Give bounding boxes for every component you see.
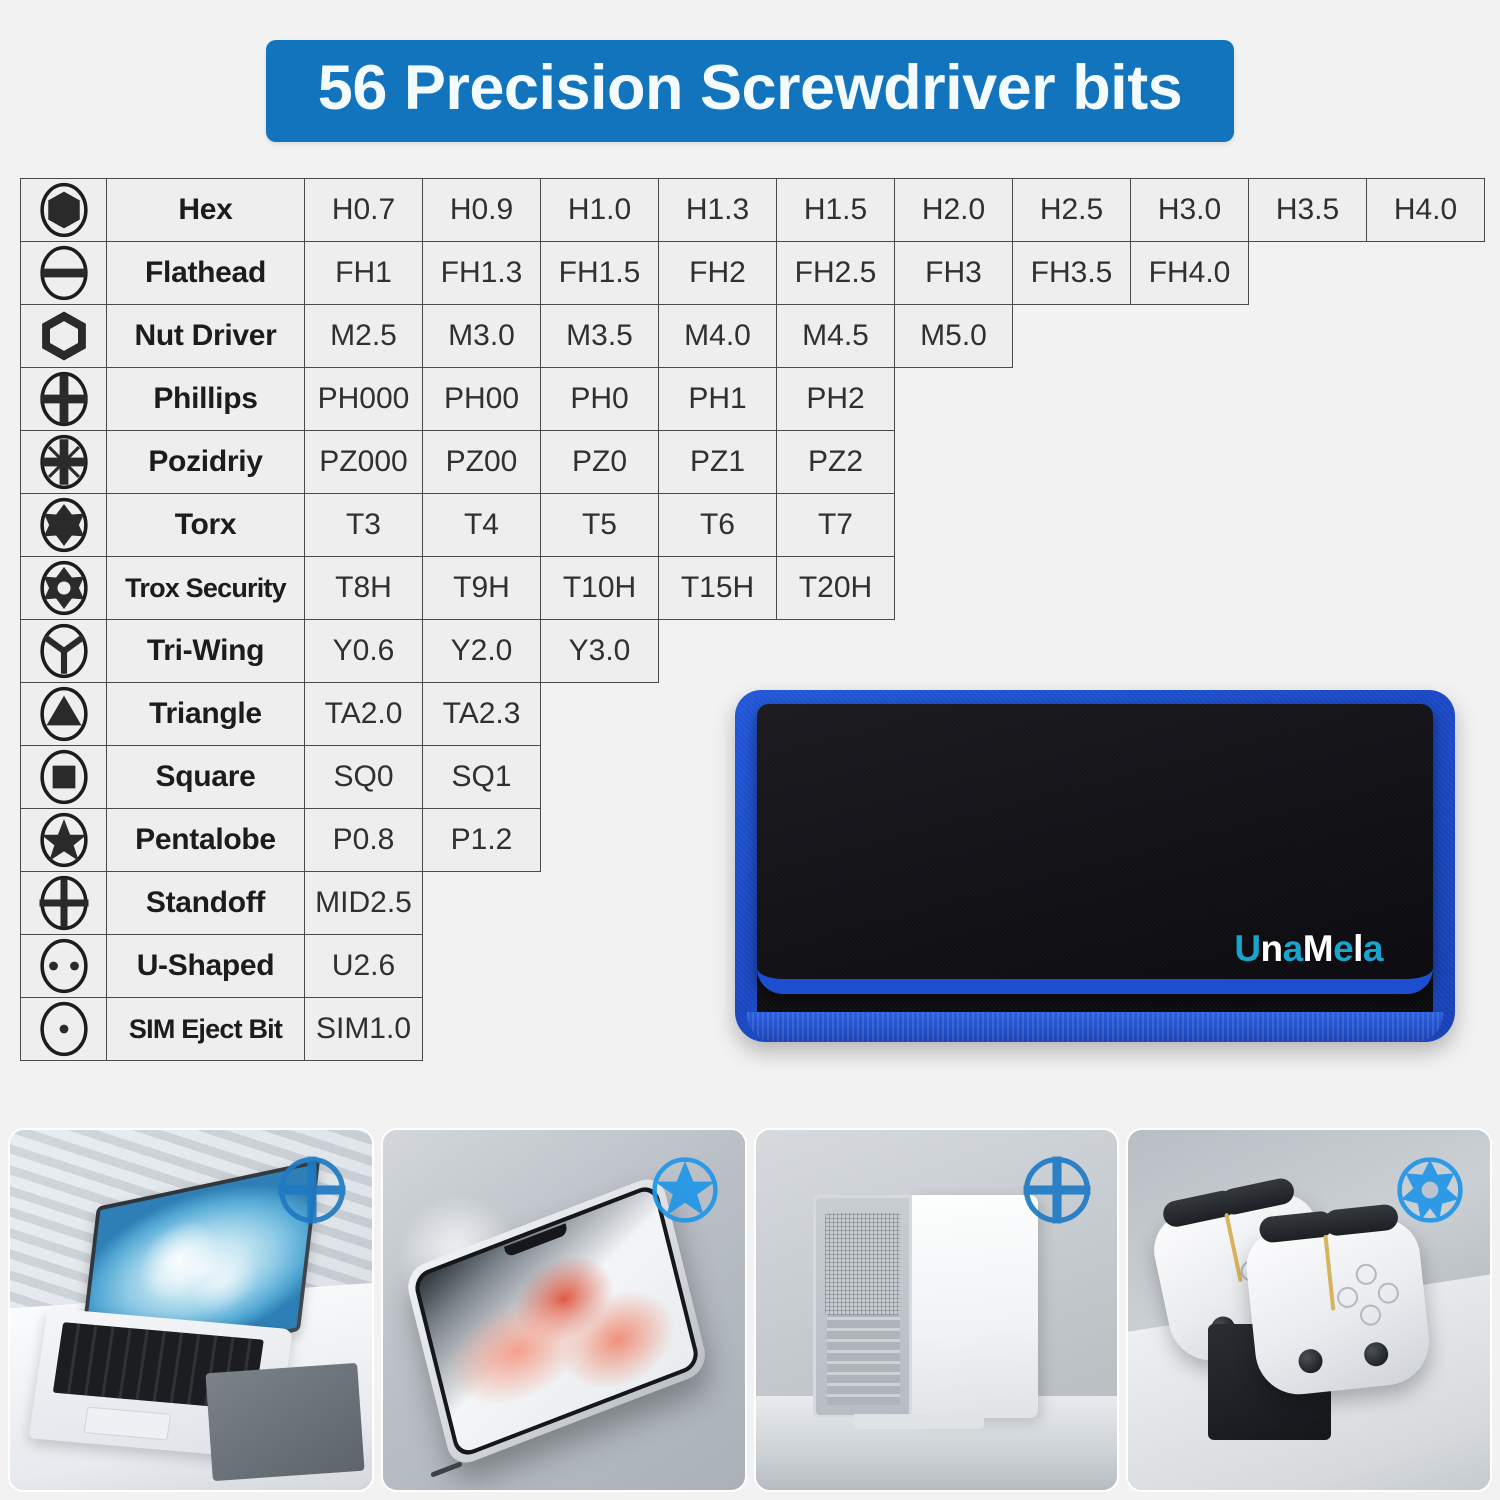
sim-eject-bit-icon xyxy=(21,998,107,1061)
empty-cell xyxy=(777,620,895,683)
empty-cell xyxy=(423,872,541,935)
controller-right-stick xyxy=(1363,1340,1389,1366)
bit-size-value: TA2.0 xyxy=(305,683,423,746)
bit-size-value: P1.2 xyxy=(423,809,541,872)
bit-type-label: Phillips xyxy=(107,368,305,431)
empty-cell xyxy=(1249,305,1367,368)
bit-size-value: Y2.0 xyxy=(423,620,541,683)
brand-logo: UnaMela xyxy=(1234,928,1383,970)
empty-cell xyxy=(1131,557,1249,620)
laptop-mousepad xyxy=(205,1362,364,1480)
empty-cell xyxy=(1367,368,1485,431)
pc-case-expansion-slots xyxy=(827,1315,900,1404)
phillips-badge-icon xyxy=(1019,1152,1095,1228)
bit-size-value: PH2 xyxy=(777,368,895,431)
empty-cell xyxy=(541,998,659,1061)
empty-cell xyxy=(1013,431,1131,494)
bit-size-value: H1.3 xyxy=(659,179,777,242)
empty-cell xyxy=(895,620,1013,683)
bit-type-label: Trox Security xyxy=(107,557,305,620)
phillips-bit-icon xyxy=(21,368,107,431)
bit-size-value: M4.5 xyxy=(777,305,895,368)
table-row: HexH0.7H0.9H1.0H1.3H1.5H2.0H2.5H3.0H3.5H… xyxy=(21,179,1485,242)
table-row: TorxT3T4T5T6T7 xyxy=(21,494,1485,557)
empty-cell xyxy=(541,683,659,746)
photo-smartphone[interactable] xyxy=(381,1128,747,1492)
controller-face-buttons xyxy=(1334,1260,1402,1328)
standoff-bit-icon xyxy=(21,872,107,935)
bit-size-value: H3.5 xyxy=(1249,179,1367,242)
bit-type-label: Pentalobe xyxy=(107,809,305,872)
bit-size-value: M5.0 xyxy=(895,305,1013,368)
pentalobe-badge-icon xyxy=(647,1152,723,1228)
bit-type-label: Pozidriy xyxy=(107,431,305,494)
bit-size-value: H1.0 xyxy=(541,179,659,242)
bit-size-value: T10H xyxy=(541,557,659,620)
pc-case-foot xyxy=(854,1414,984,1430)
bit-size-value: MID2.5 xyxy=(305,872,423,935)
bit-size-value: M4.0 xyxy=(659,305,777,368)
bit-type-label: Nut Driver xyxy=(107,305,305,368)
empty-cell xyxy=(1013,494,1131,557)
bit-type-label: Hex xyxy=(107,179,305,242)
controller-gold-accent xyxy=(1324,1234,1336,1310)
pouch-outer-trim: UnaMela xyxy=(735,690,1455,1042)
empty-cell xyxy=(1131,494,1249,557)
bit-size-value: U2.6 xyxy=(305,935,423,998)
empty-cell xyxy=(1367,242,1485,305)
empty-cell xyxy=(541,935,659,998)
table-row: PozidriyPZ000PZ00PZ0PZ1PZ2 xyxy=(21,431,1485,494)
table-row: Trox SecurityT8HT9HT10HT15HT20H xyxy=(21,557,1485,620)
bit-size-value: SIM1.0 xyxy=(305,998,423,1061)
empty-cell xyxy=(1249,368,1367,431)
empty-cell xyxy=(541,872,659,935)
bit-size-value: PZ000 xyxy=(305,431,423,494)
torx-security-badge-icon xyxy=(1392,1152,1468,1228)
title-banner: 56 Precision Screwdriver bits xyxy=(266,40,1234,142)
empty-cell xyxy=(895,557,1013,620)
empty-cell xyxy=(541,809,659,872)
empty-cell xyxy=(423,935,541,998)
bit-type-label: Triangle xyxy=(107,683,305,746)
bit-size-value: PZ0 xyxy=(541,431,659,494)
page-title: 56 Precision Screwdriver bits xyxy=(318,54,1182,122)
bit-size-value: SQ1 xyxy=(423,746,541,809)
empty-cell xyxy=(541,746,659,809)
bit-size-value: M3.0 xyxy=(423,305,541,368)
bit-type-label: SIM Eject Bit xyxy=(107,998,305,1061)
empty-cell xyxy=(1131,368,1249,431)
product-image-pouch: UnaMela xyxy=(735,690,1455,1060)
bit-size-value: T7 xyxy=(777,494,895,557)
bit-size-value: H0.7 xyxy=(305,179,423,242)
bit-size-value: FH2.5 xyxy=(777,242,895,305)
photo-pc-case[interactable] xyxy=(754,1128,1120,1492)
bit-size-value: T6 xyxy=(659,494,777,557)
empty-cell xyxy=(1367,431,1485,494)
bit-size-value: PH00 xyxy=(423,368,541,431)
bit-size-value: M3.5 xyxy=(541,305,659,368)
bit-size-value: TA2.3 xyxy=(423,683,541,746)
bit-size-value: Y3.0 xyxy=(541,620,659,683)
nut-driver-bit-icon xyxy=(21,305,107,368)
empty-cell xyxy=(1013,305,1131,368)
bit-size-value: FH1.3 xyxy=(423,242,541,305)
bit-size-value: T20H xyxy=(777,557,895,620)
u-shaped-bit-icon xyxy=(21,935,107,998)
bit-size-value: PH1 xyxy=(659,368,777,431)
bit-size-value: T5 xyxy=(541,494,659,557)
bit-size-value: H4.0 xyxy=(1367,179,1485,242)
bit-size-value: FH2 xyxy=(659,242,777,305)
empty-cell xyxy=(1013,368,1131,431)
pozidriv-bit-icon xyxy=(21,431,107,494)
pc-case-mesh xyxy=(825,1213,900,1316)
square-bit-icon xyxy=(21,746,107,809)
photo-controllers[interactable] xyxy=(1126,1128,1492,1492)
empty-cell xyxy=(1131,431,1249,494)
title-banner-wrap: 56 Precision Screwdriver bits xyxy=(0,40,1500,142)
bit-size-value: H1.5 xyxy=(777,179,895,242)
bit-size-value: H0.9 xyxy=(423,179,541,242)
photo-laptop[interactable] xyxy=(8,1128,374,1492)
pc-case-rear-panel xyxy=(813,1195,912,1418)
bit-type-label: Square xyxy=(107,746,305,809)
bit-size-value: T4 xyxy=(423,494,541,557)
table-row: PhillipsPH000PH00PH0PH1PH2 xyxy=(21,368,1485,431)
empty-cell xyxy=(1367,620,1485,683)
empty-cell xyxy=(895,494,1013,557)
empty-cell xyxy=(1367,557,1485,620)
bit-size-value: T15H xyxy=(659,557,777,620)
use-case-photo-strip xyxy=(8,1128,1492,1492)
table-row: Tri-WingY0.6Y2.0Y3.0 xyxy=(21,620,1485,683)
empty-cell xyxy=(1013,557,1131,620)
bit-size-value: P0.8 xyxy=(305,809,423,872)
bit-size-value: PH0 xyxy=(541,368,659,431)
bit-size-value: PH000 xyxy=(305,368,423,431)
bit-size-value: FH3 xyxy=(895,242,1013,305)
laptop-trackpad xyxy=(84,1406,171,1439)
phone-notch xyxy=(504,1223,568,1257)
empty-cell xyxy=(1249,620,1367,683)
bit-size-value: H2.5 xyxy=(1013,179,1131,242)
bit-type-label: Torx xyxy=(107,494,305,557)
pentalobe-bit-icon xyxy=(21,809,107,872)
phillips-badge-icon xyxy=(274,1152,350,1228)
bit-size-value: T8H xyxy=(305,557,423,620)
empty-cell xyxy=(1249,494,1367,557)
bit-size-value: FH1.5 xyxy=(541,242,659,305)
empty-cell xyxy=(1249,242,1367,305)
empty-cell xyxy=(1367,494,1485,557)
bit-size-value: PZ1 xyxy=(659,431,777,494)
empty-cell xyxy=(895,431,1013,494)
bit-type-label: Tri-Wing xyxy=(107,620,305,683)
bit-type-label: Flathead xyxy=(107,242,305,305)
empty-cell xyxy=(895,368,1013,431)
empty-cell xyxy=(659,620,777,683)
bit-size-value: T3 xyxy=(305,494,423,557)
bit-size-value: M2.5 xyxy=(305,305,423,368)
torx-bit-icon xyxy=(21,494,107,557)
table-row: FlatheadFH1FH1.3FH1.5FH2FH2.5FH3FH3.5FH4… xyxy=(21,242,1485,305)
flathead-bit-icon xyxy=(21,242,107,305)
bit-size-value: H2.0 xyxy=(895,179,1013,242)
torx-security-bit-icon xyxy=(21,557,107,620)
hex-bit-icon xyxy=(21,179,107,242)
empty-cell xyxy=(1249,557,1367,620)
bit-size-value: SQ0 xyxy=(305,746,423,809)
bit-type-label: Standoff xyxy=(107,872,305,935)
pouch-bottom-trim xyxy=(747,1012,1443,1042)
bit-size-value: FH3.5 xyxy=(1013,242,1131,305)
empty-cell xyxy=(1131,620,1249,683)
bit-type-label: U-Shaped xyxy=(107,935,305,998)
game-controller-front xyxy=(1243,1215,1433,1398)
pc-case-side-panel xyxy=(912,1195,1038,1418)
table-row: Nut DriverM2.5M3.0M3.5M4.0M4.5M5.0 xyxy=(21,305,1485,368)
bit-size-value: FH4.0 xyxy=(1131,242,1249,305)
empty-cell xyxy=(1249,431,1367,494)
bit-size-value: T9H xyxy=(423,557,541,620)
empty-cell xyxy=(1131,305,1249,368)
pc-case-device xyxy=(813,1195,1037,1418)
empty-cell xyxy=(1367,305,1485,368)
tri-wing-bit-icon xyxy=(21,620,107,683)
triangle-bit-icon xyxy=(21,683,107,746)
bit-size-value: PZ2 xyxy=(777,431,895,494)
bit-size-value: FH1 xyxy=(305,242,423,305)
bit-size-value: H3.0 xyxy=(1131,179,1249,242)
bit-size-value: PZ00 xyxy=(423,431,541,494)
empty-cell xyxy=(423,998,541,1061)
empty-cell xyxy=(1013,620,1131,683)
controller-left-stick xyxy=(1297,1347,1323,1373)
bit-size-value: Y0.6 xyxy=(305,620,423,683)
